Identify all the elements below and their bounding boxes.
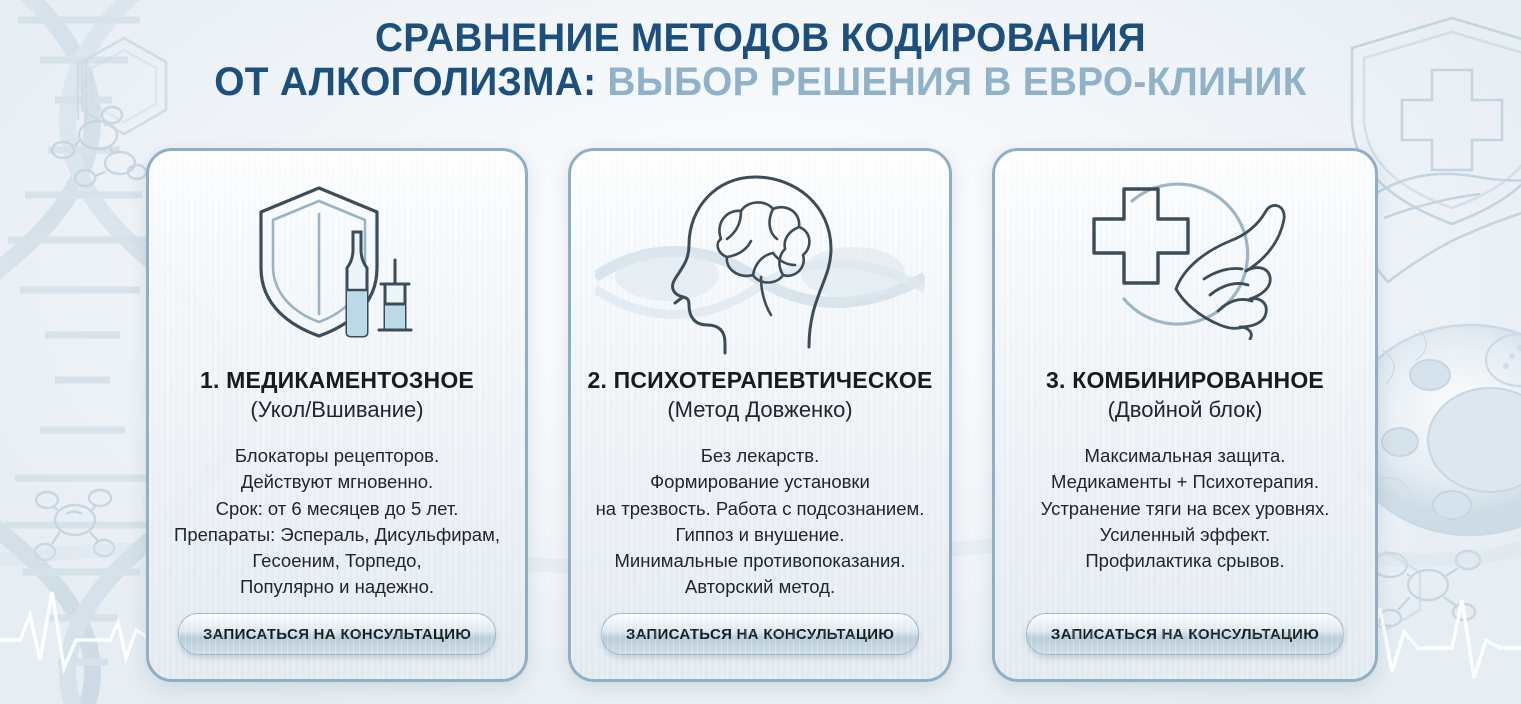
card-1-body-line: Популярно и надежно. [174,574,500,600]
card-1-body-line: Срок: от 6 месяцев до 5 лет. [174,496,500,522]
card-1-body-line: Гесоеним, Торпедо, [174,548,500,574]
card-1-body-line: Препараты: Эсперaль, Дисульфирам, [174,522,500,548]
card-2-subtitle: (Метод Довженко) [667,397,852,423]
card-3-body-line: Медикаменты + Психотерапия. [1041,469,1330,495]
card-2-body-line: на трезвость. Работа с подсознанием. [596,496,925,522]
card-3-body-line: Профилактика срывов. [1041,548,1330,574]
card-2-icon-area [571,151,949,363]
card-3-body-line: Максимальная защита. [1041,443,1330,469]
card-3-body-line: Усиленный эффект. [1041,522,1330,548]
card-2-body-line: Минимальные противопоказания. [596,548,925,574]
card-1-icon-area [149,151,525,363]
card-3-body-line: Устранение тяги на всех уровнях. [1041,496,1330,522]
card-2-body-line: Формирование установки [596,469,925,495]
shield-ampoule-syringe-icon [247,172,427,342]
card-2-body-line: Авторский метод. [596,574,925,600]
card-2-title: 2. ПСИХОТЕРАПЕВТИЧЕСКОЕ [587,367,932,394]
card-1-title: 1. МЕДИКАМЕНТОЗНОЕ [200,367,474,394]
title-line-2-dark: ОТ АЛКОГОЛИЗМА: [214,60,596,104]
card-1-body: Блокаторы рецепторов. Действуют мгновенн… [166,443,508,601]
card-3-subtitle: (Двойной блок) [1108,397,1263,423]
title-line-2: ОТ АЛКОГОЛИЗМА: ВЫБОР РЕШЕНИЯ В ЕВРО-КЛИ… [23,60,1498,104]
card-2-body-line: Гиппоз и внушение. [596,522,925,548]
method-card-psychotherapy: 2. ПСИХОТЕРАПЕВТИЧЕСКОЕ (Метод Довженко)… [568,148,952,682]
title-line-1: СРАВНЕНИЕ МЕТОДОВ КОДИРОВАНИЯ [23,16,1498,60]
method-cards: 1. МЕДИКАМЕНТОЗНОЕ (Укол/Вшивание) Блока… [0,148,1521,682]
card-1-body-line: Действуют мгновенно. [174,469,500,495]
infographic-banner: СРАВНЕНИЕ МЕТОДОВ КОДИРОВАНИЯ ОТ АЛКОГОЛ… [0,0,1521,704]
card-2-body: Без лекарств. Формирование установки на … [588,443,933,601]
page-title: СРАВНЕНИЕ МЕТОДОВ КОДИРОВАНИЯ ОТ АЛКОГОЛ… [0,16,1521,104]
card-2-body-line: Без лекарств. [596,443,925,469]
syringe-icon [379,260,411,330]
cross-helping-hands-icon [1080,175,1290,340]
card-3-icon-area [995,151,1375,363]
method-card-combined: 3. КОМБИНИРОВАННОЕ (Двойной блок) Максим… [992,148,1378,682]
card-3-title: 3. КОМБИНИРОВАННОЕ [1046,367,1324,394]
card-3-body: Максимальная защита. Медикаменты + Психо… [1033,443,1338,574]
method-card-medication: 1. МЕДИКАМЕНТОЗНОЕ (Укол/Вшивание) Блока… [146,148,528,682]
card-1-body-line: Блокаторы рецепторов. [174,443,500,469]
title-line-2-light: ВЫБОР РЕШЕНИЯ В ЕВРО-КЛИНИК [596,60,1306,104]
card-1-subtitle: (Укол/Вшивание) [250,397,423,423]
head-brain-icon [595,157,925,357]
